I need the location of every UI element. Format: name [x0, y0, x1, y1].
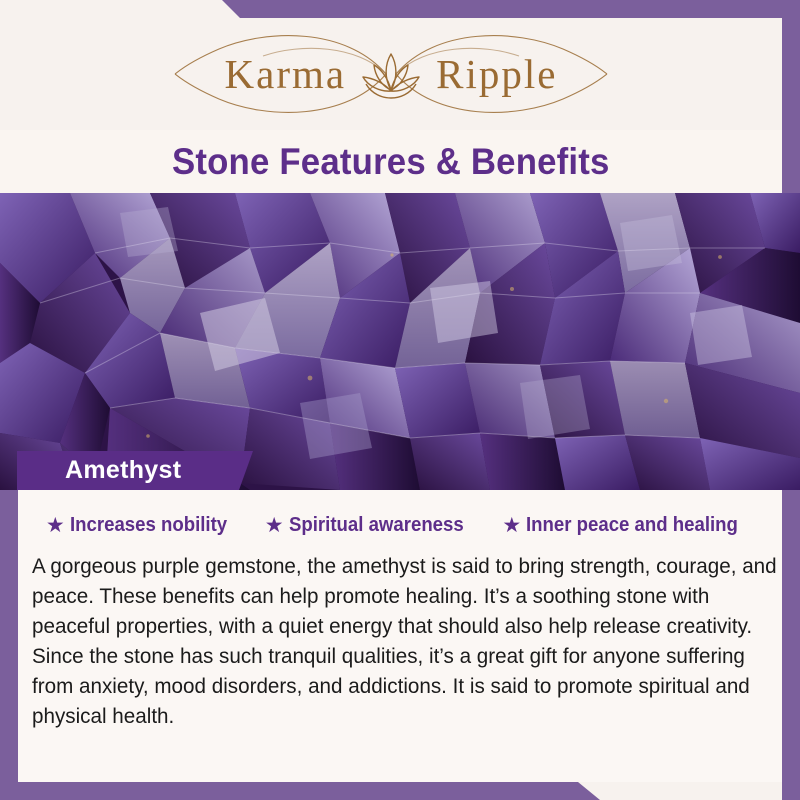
- benefit-item: ★ Inner peace and healing: [502, 514, 754, 537]
- benefit-label: Inner peace and healing: [526, 514, 738, 537]
- benefit-label: Increases nobility: [70, 514, 227, 537]
- amethyst-crystal-illustration: [0, 193, 800, 490]
- content-panel: ★ Increases nobility ★ Spiritual awarene…: [18, 490, 782, 782]
- stone-description: A gorgeous purple gemstone, the amethyst…: [32, 551, 781, 732]
- star-icon: ★: [265, 515, 284, 536]
- lotus-icon: [356, 46, 426, 102]
- benefit-item: ★ Spiritual awareness: [265, 514, 477, 537]
- brand-logo: Karma Ripple: [225, 46, 558, 102]
- section-title-band: Stone Features & Benefits: [0, 130, 782, 193]
- star-icon: ★: [46, 515, 65, 536]
- frame-band-left: [0, 486, 18, 800]
- frame-band-top-right: [0, 0, 800, 18]
- stone-name-banner: Amethyst: [17, 451, 253, 490]
- poster-root: Karma Ripple Stone Features & Benefits: [0, 0, 800, 800]
- benefit-label: Spiritual awareness: [289, 514, 464, 537]
- hero-image: [0, 193, 800, 490]
- brand-name-left: Karma: [225, 54, 347, 95]
- benefit-item: ★ Increases nobility: [46, 514, 239, 537]
- page-title: Stone Features & Benefits: [172, 141, 610, 183]
- star-icon: ★: [502, 515, 521, 536]
- frame-band-bottom-left: [0, 782, 800, 800]
- brand-name-right: Ripple: [436, 54, 557, 95]
- stone-name: Amethyst: [65, 456, 181, 485]
- benefits-list: ★ Increases nobility ★ Spiritual awarene…: [18, 490, 782, 537]
- brand-header: Karma Ripple: [0, 18, 782, 130]
